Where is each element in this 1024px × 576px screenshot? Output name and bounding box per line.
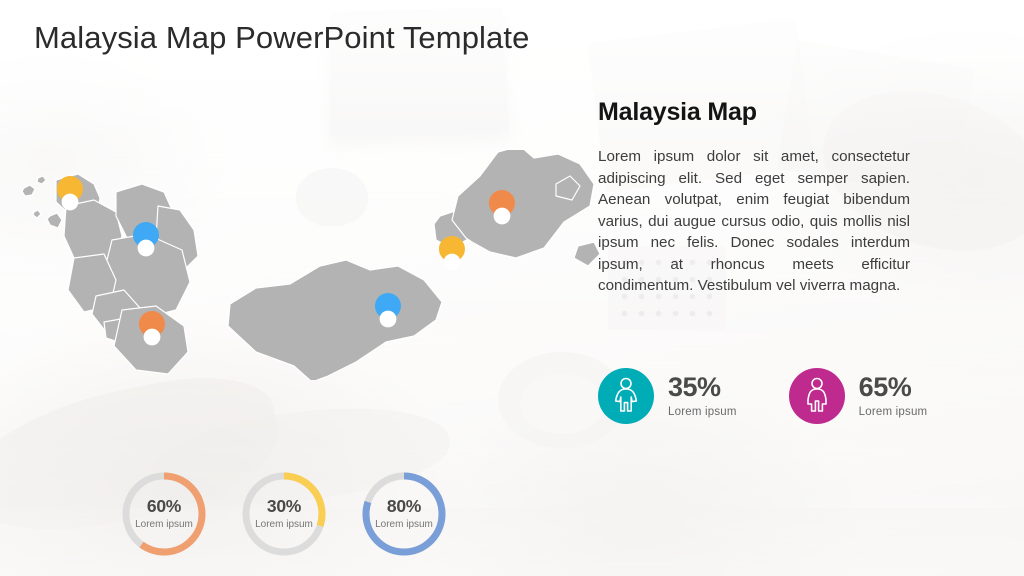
donut-chart-group: 60% Lorem ipsum 30% Lorem ipsum 80% Lore… xyxy=(118,468,450,560)
female-badge xyxy=(598,368,654,424)
male-icon xyxy=(802,377,832,415)
map-pin-4[interactable] xyxy=(489,190,515,232)
panel-body-text: Lorem ipsum dolor sit amet, consectetur … xyxy=(598,146,910,297)
female-icon xyxy=(611,377,641,415)
donut-percent-1: 60% xyxy=(147,498,181,516)
map-pin-6[interactable] xyxy=(375,293,401,335)
donut-label-2: Lorem ipsum xyxy=(255,519,313,530)
donut-percent-2: 30% xyxy=(267,498,301,516)
donut-center-2: 30% Lorem ipsum xyxy=(238,468,330,560)
male-percent: 65% xyxy=(859,374,928,401)
malaysia-map[interactable] xyxy=(0,150,600,380)
gender-stat-male[interactable]: 65% Lorem ipsum xyxy=(789,368,928,424)
donut-percent-3: 80% xyxy=(387,498,421,516)
map-pin-5[interactable] xyxy=(439,236,465,278)
map-pin-1[interactable] xyxy=(57,176,83,218)
female-stat-text: 35% Lorem ipsum xyxy=(668,374,737,418)
gender-stat-female[interactable]: 35% Lorem ipsum xyxy=(598,368,737,424)
donut-label-1: Lorem ipsum xyxy=(135,519,193,530)
map-pin-2[interactable] xyxy=(133,222,159,264)
gender-stats-group: 35% Lorem ipsum 65% Lorem ipsum xyxy=(598,368,927,424)
male-stat-text: 65% Lorem ipsum xyxy=(859,374,928,418)
donut-chart-3[interactable]: 80% Lorem ipsum xyxy=(358,468,450,560)
male-badge xyxy=(789,368,845,424)
map-pin-3[interactable] xyxy=(139,311,165,353)
donut-center-1: 60% Lorem ipsum xyxy=(118,468,210,560)
female-percent: 35% xyxy=(668,374,737,401)
donut-chart-2[interactable]: 30% Lorem ipsum xyxy=(238,468,330,560)
panel-heading: Malaysia Map xyxy=(598,98,757,127)
slide-canvas: Malaysia Map PowerPoint Template xyxy=(0,0,1024,576)
female-label: Lorem ipsum xyxy=(668,406,737,418)
donut-label-3: Lorem ipsum xyxy=(375,519,433,530)
male-label: Lorem ipsum xyxy=(859,406,928,418)
page-title: Malaysia Map PowerPoint Template xyxy=(34,20,529,56)
donut-chart-1[interactable]: 60% Lorem ipsum xyxy=(118,468,210,560)
donut-center-3: 80% Lorem ipsum xyxy=(358,468,450,560)
